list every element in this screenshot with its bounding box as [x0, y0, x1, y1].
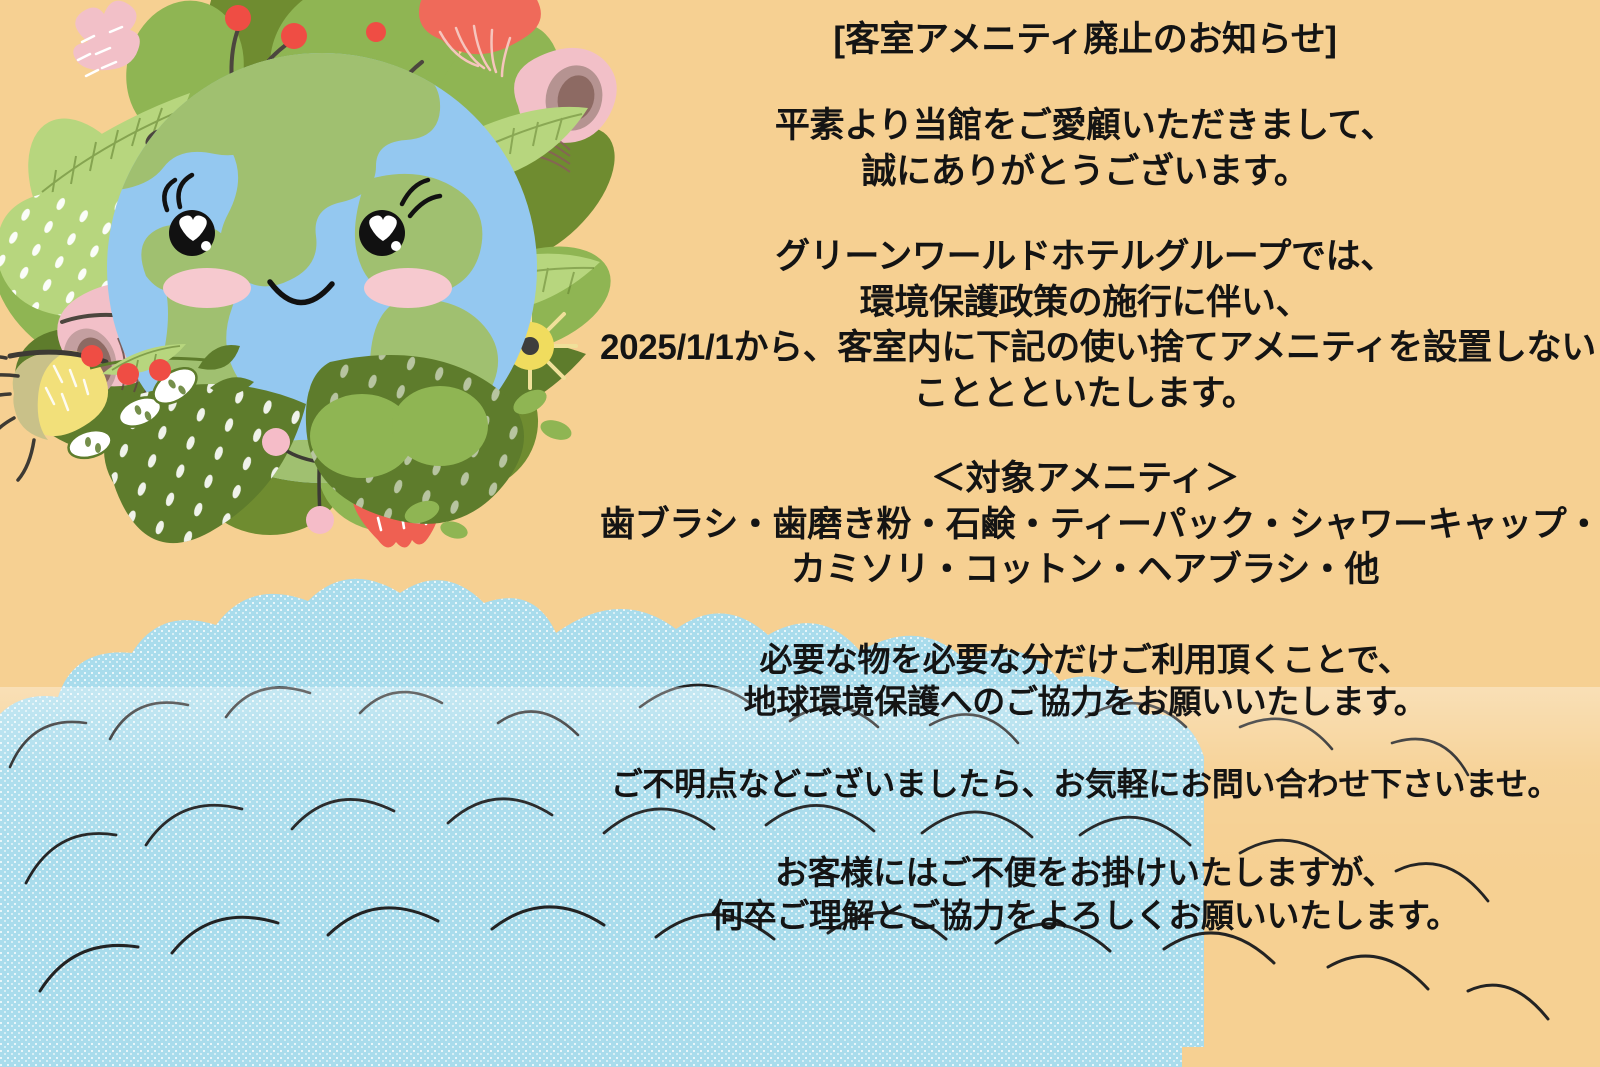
spacer — [600, 57, 1570, 103]
announcement-block: グリーンワールドホテルグループでは、 環境保護政策の施行に伴い、 2025/1/… — [600, 234, 1570, 416]
amenity-heading: ＜対象アメニティ＞ — [600, 456, 1570, 502]
closing-line-2: 何卒ご理解とご協力をよろしくお願いいたします。 — [600, 895, 1570, 938]
closing-block: お客様にはご不便をお掛けいたしますが、 何卒ご理解とご協力をよろしくお願いいたし… — [600, 852, 1570, 938]
spacer — [600, 416, 1570, 456]
notice-text-column: [客室アメニティ廃止のお知らせ] 平素より当館をご愛顧いただきまして、 誠にあり… — [600, 0, 1570, 1067]
smiling-earth-illustration — [0, 0, 670, 630]
request-line-1: 必要な物を必要な分だけご利用頂くことで、 — [600, 639, 1570, 682]
announcement-line-1: グリーンワールドホテルグループでは、 — [600, 234, 1570, 280]
spacer — [600, 724, 1570, 764]
amenity-list-line-2: カミソリ・コットン・ヘアブラシ・他 — [600, 547, 1570, 593]
announcement-line-2: 環境保護政策の施行に伴い、 — [600, 280, 1570, 326]
amenity-list-line-1: 歯ブラシ・歯磨き粉・石鹸・ティーパック・シャワーキャップ・ — [600, 502, 1570, 548]
amenity-discontinuation-notice-poster: [客室アメニティ廃止のお知らせ] 平素より当館をご愛顧いただきまして、 誠にあり… — [0, 0, 1600, 1067]
spacer — [600, 806, 1570, 852]
contact-block: ご不明点などございましたら、お気軽にお問い合わせ下さいませ。 — [600, 764, 1570, 806]
spacer — [600, 593, 1570, 639]
notice-title-text: [客室アメニティ廃止のお知らせ] — [600, 22, 1570, 57]
request-line-2: 地球環境保護へのご協力をお願いいたします。 — [600, 681, 1570, 724]
amenity-block: ＜対象アメニティ＞ 歯ブラシ・歯磨き粉・石鹸・ティーパック・シャワーキャップ・ … — [600, 456, 1570, 593]
notice-title: [客室アメニティ廃止のお知らせ] — [600, 0, 1570, 57]
request-block: 必要な物を必要な分だけご利用頂くことで、 地球環境保護へのご協力をお願いいたしま… — [600, 639, 1570, 725]
announcement-line-3: 2025/1/1から、客室内に下記の使い捨てアメニティを設置しない — [600, 325, 1570, 371]
greeting-line-1: 平素より当館をご愛顧いただきまして、 — [600, 103, 1570, 149]
closing-line-1: お客様にはご不便をお掛けいたしますが、 — [600, 852, 1570, 895]
announcement-line-4: こととといたします。 — [600, 371, 1570, 417]
greeting-block: 平素より当館をご愛顧いただきまして、 誠にありがとうございます。 — [600, 103, 1570, 194]
cheek-left — [163, 268, 251, 308]
contact-line: ご不明点などございましたら、お気軽にお問い合わせ下さいませ。 — [600, 764, 1570, 806]
spacer — [600, 194, 1570, 234]
cheek-right — [364, 268, 452, 308]
greeting-line-2: 誠にありがとうございます。 — [600, 149, 1570, 195]
